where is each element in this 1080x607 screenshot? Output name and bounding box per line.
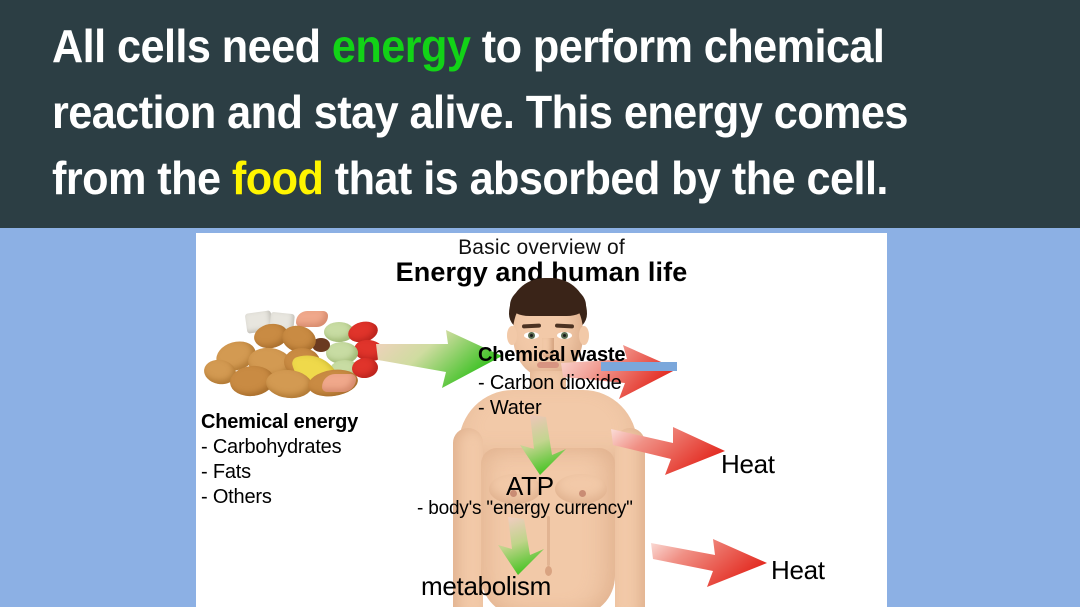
food-plate-image	[204, 308, 379, 400]
header-highlight-energy: energy	[332, 20, 470, 72]
figure-eye-right	[557, 332, 572, 339]
header-line1-part2: to perform chemical	[470, 20, 884, 72]
figure-ear-left	[507, 326, 517, 345]
chemical-energy-item-carbohydrates: - Carbohydrates	[201, 436, 341, 459]
heat-label-top: Heat	[721, 449, 775, 480]
diagram-card: Basic overview of Energy and human life	[196, 233, 887, 607]
figure-nipple-right	[579, 490, 586, 497]
metabolism-label: metabolism	[421, 571, 551, 602]
header-highlight-food: food	[232, 152, 323, 204]
slide-stage: Basic overview of Energy and human life	[0, 228, 1080, 607]
header-line3-part2: that is absorbed by the cell.	[323, 152, 888, 204]
arrow-to-atp-icon	[512, 415, 572, 477]
header-line1-part1: All cells need	[52, 20, 332, 72]
figure-hair-front	[510, 286, 586, 316]
chemical-energy-item-fats: - Fats	[201, 461, 251, 484]
figure-ear-right	[579, 326, 589, 345]
figure-eye-left	[524, 332, 539, 339]
chemical-energy-item-others: - Others	[201, 486, 272, 509]
arrow-heat-top-icon	[611, 423, 729, 479]
header-line-2: reaction and stay alive. This energy com…	[52, 79, 975, 145]
arrow-to-metabolism-icon	[492, 517, 550, 577]
atp-sublabel: - body's "energy currency"	[417, 498, 633, 520]
heat-label-bottom: Heat	[771, 555, 825, 586]
chemical-energy-heading: Chemical energy	[201, 411, 358, 434]
header-banner: All cells need energy to perform chemica…	[0, 0, 1080, 228]
header-line-1: All cells need energy to perform chemica…	[52, 13, 975, 79]
arrow-heat-bottom-icon	[651, 533, 771, 591]
header-line3-part1: from the	[52, 152, 232, 204]
chemical-waste-underline-bar	[601, 362, 677, 371]
chemical-waste-item-carbon-dioxide: - Carbon dioxide	[478, 372, 622, 395]
header-line-3: from the food that is absorbed by the ce…	[52, 145, 975, 211]
chemical-waste-item-water: - Water	[478, 397, 541, 420]
